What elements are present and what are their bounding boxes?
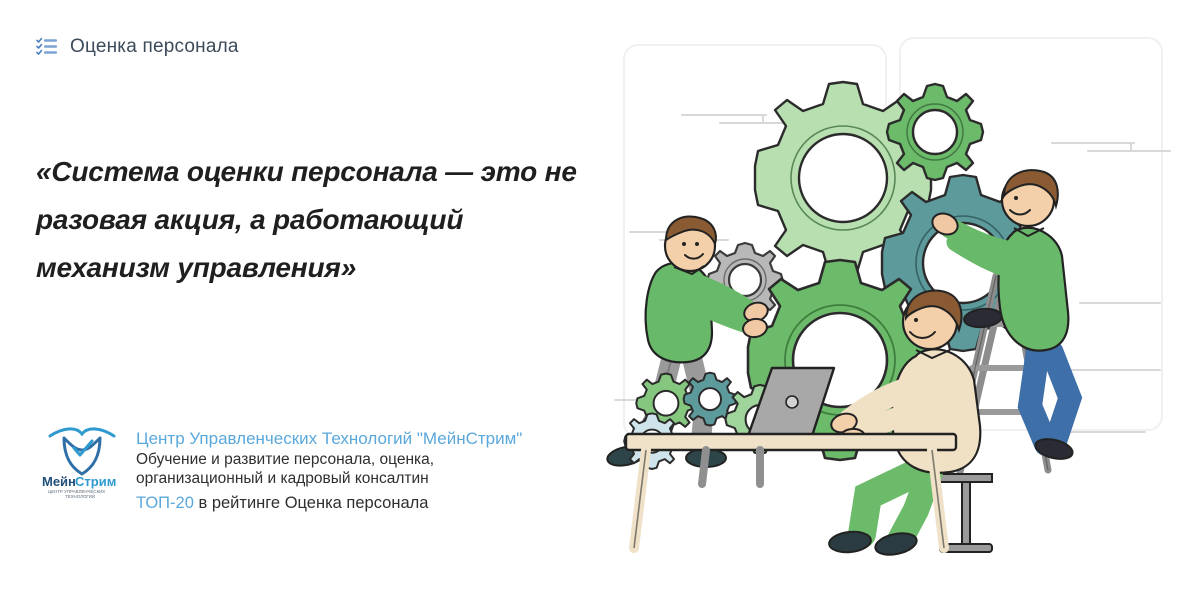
company-desc-line-2: организационный и кадровый консалтин bbox=[136, 469, 522, 488]
rank-suffix: в рейтинге Оценка персонала bbox=[194, 494, 429, 512]
gears-teamwork-illustration bbox=[600, 20, 1200, 580]
company-name[interactable]: Центр Управленческих Технологий "МейнСтр… bbox=[136, 428, 522, 450]
checklist-icon bbox=[36, 36, 58, 58]
logo-brand-accent: Стрим bbox=[75, 474, 116, 489]
page-title: Оценка персонала bbox=[70, 36, 239, 58]
logo-tagline-2: ТЕХНОЛОГИЙ bbox=[65, 494, 95, 499]
company-info: Центр Управленческих Технологий "МейнСтр… bbox=[136, 424, 522, 516]
company-rank: ТОП-20 в рейтинге Оценка персонала bbox=[136, 490, 522, 516]
slide-root: Оценка персонала «Система оценки персона… bbox=[0, 0, 1200, 600]
rank-badge: ТОП-20 bbox=[136, 494, 194, 512]
mainstream-logo: Мейн Стрим ЦЕНТР УПРАВЛЕНЧЕСКИХ ТЕХНОЛОГ… bbox=[40, 424, 124, 505]
logo-brand-main: Мейн bbox=[42, 474, 76, 489]
company-footer: Мейн Стрим ЦЕНТР УПРАВЛЕНЧЕСКИХ ТЕХНОЛОГ… bbox=[40, 424, 522, 516]
quote-text: «Система оценки персонала — это не разов… bbox=[36, 148, 596, 292]
gear-green-small-top bbox=[887, 84, 983, 180]
company-desc-line-1: Обучение и развитие персонала, оценка, bbox=[136, 450, 522, 469]
page-header: Оценка персонала bbox=[36, 36, 239, 58]
